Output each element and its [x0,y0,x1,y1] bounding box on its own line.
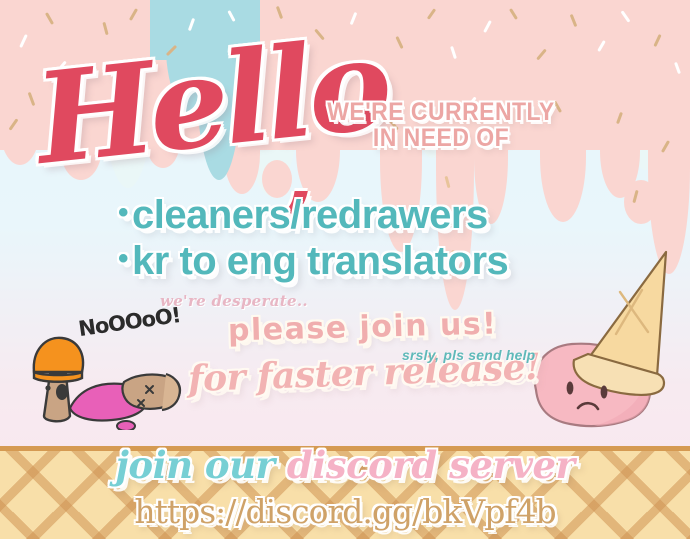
role-label-1: kr to eng translators [132,239,508,283]
discord-invite-link[interactable]: https://discord.gg/bkVpf4b [0,492,690,531]
srsly-note: srsly, pls send help [402,347,535,363]
pink-drip-9 [540,144,586,222]
sad-melted-ice-cream-illustration [516,240,686,435]
shocked-ice-cream-cone-illustration [26,330,186,430]
cta-pink-part: discord server [287,443,575,487]
need-line-1: WE'RE CURRENTLY [327,98,554,126]
poster-canvas: Hello , WE'RE CURRENTLY IN NEED OF •clea… [0,0,690,539]
need-line-2: IN NEED OF [308,126,575,152]
list-item: •cleaners/redrawers [118,192,508,238]
cta-teal-part: join our [116,443,275,487]
discord-cta[interactable]: join our discord server [0,443,690,487]
bullet-icon: • [118,242,128,275]
join-us-text: please join us! [228,306,498,348]
role-label-0: cleaners/redrawers [132,193,488,237]
desperate-note: we're desperate.. [160,292,308,310]
bullet-icon: • [118,196,128,229]
list-item: •kr to eng translators [118,238,508,284]
pink-drip-1 [0,120,40,165]
subtitle-need-of: WE'RE CURRENTLY IN NEED OF [308,100,575,151]
roles-list: •cleaners/redrawers •kr to eng translato… [118,192,508,285]
pink-blob-2 [624,180,658,224]
